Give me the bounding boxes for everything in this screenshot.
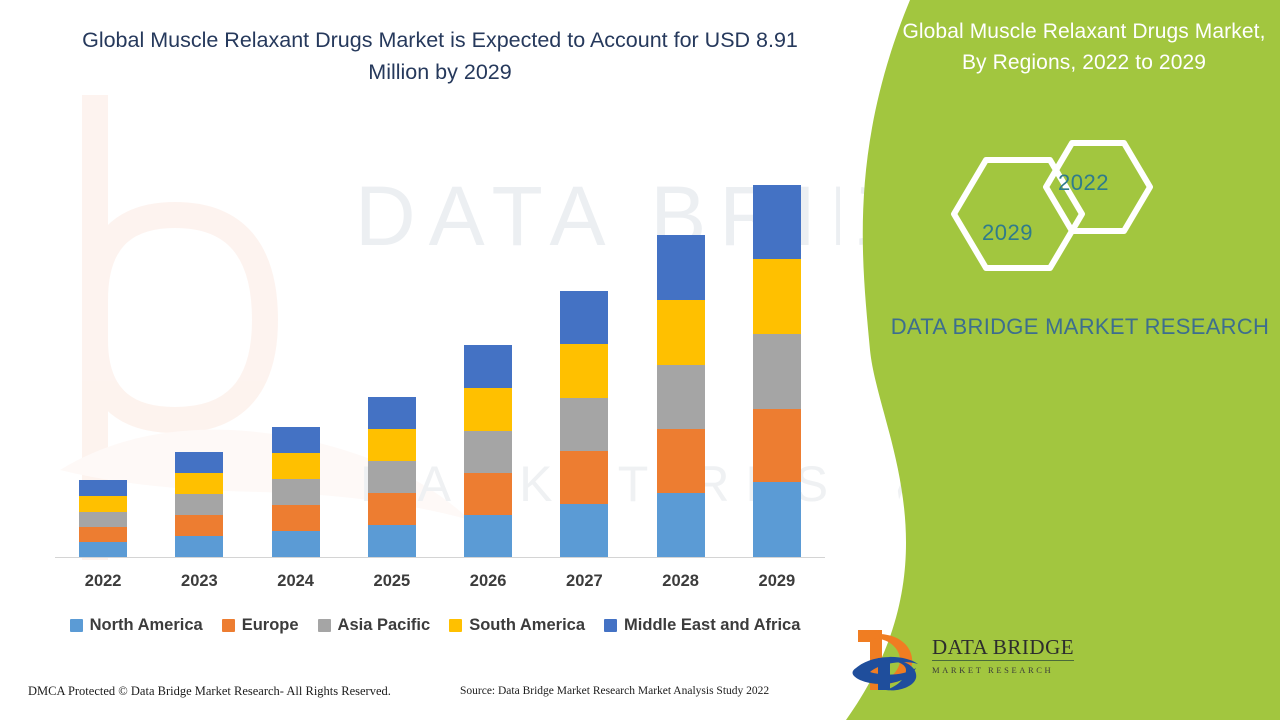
bar-segment — [753, 482, 801, 557]
bar-segment — [175, 536, 223, 557]
bar-segment — [175, 473, 223, 494]
x-axis-label: 2026 — [440, 572, 536, 591]
bar-segment — [175, 452, 223, 473]
bar-segment — [560, 344, 608, 398]
stacked-bar — [753, 185, 801, 557]
stacked-bar — [560, 291, 608, 557]
bar-column — [633, 110, 729, 557]
x-axis-label: 2029 — [729, 572, 825, 591]
bar-segment — [753, 185, 801, 259]
stacked-bar — [657, 235, 705, 557]
bar-segment — [79, 542, 127, 557]
bar-column — [248, 110, 344, 557]
bar-segment — [560, 504, 608, 557]
bar-segment — [657, 235, 705, 300]
bar-segment — [560, 398, 608, 451]
legend-item[interactable]: Asia Pacific — [318, 616, 431, 635]
x-axis-label: 2027 — [536, 572, 632, 591]
legend-swatch-icon — [604, 619, 617, 632]
chart-canvas: DATA BRIDGE MARKET RESEARCH Global Muscl… — [0, 0, 1280, 720]
x-axis-label: 2028 — [633, 572, 729, 591]
bar-column — [729, 110, 825, 557]
bar-segment — [464, 431, 512, 473]
legend-label: Middle East and Africa — [624, 616, 800, 635]
bar-segment — [464, 473, 512, 515]
bar-segment — [79, 496, 127, 512]
bar-segment — [368, 493, 416, 525]
bar-column — [536, 110, 632, 557]
hexagon-label-2022: 2022 — [1058, 170, 1109, 196]
bar-segment — [368, 525, 416, 557]
bar-segment — [79, 527, 127, 542]
bar-column — [344, 110, 440, 557]
bar-segment — [560, 291, 608, 344]
bar-segment — [272, 531, 320, 557]
bar-group — [55, 110, 825, 557]
x-axis-label: 2025 — [344, 572, 440, 591]
x-axis-label: 2024 — [248, 572, 344, 591]
chart-title: Global Muscle Relaxant Drugs Market is E… — [60, 24, 820, 88]
legend-swatch-icon — [222, 619, 235, 632]
panel-title: Global Muscle Relaxant Drugs Market, By … — [898, 16, 1270, 78]
bar-segment — [272, 479, 320, 505]
stacked-bar — [368, 397, 416, 557]
legend-swatch-icon — [449, 619, 462, 632]
bar-segment — [657, 300, 705, 365]
stacked-bar — [464, 345, 512, 557]
bar-segment — [560, 451, 608, 504]
x-axis-label: 2022 — [55, 572, 151, 591]
bar-segment — [368, 397, 416, 429]
stacked-bar — [272, 427, 320, 557]
bar-segment — [753, 334, 801, 409]
bar-segment — [368, 461, 416, 493]
x-axis-line — [55, 557, 825, 558]
bar-segment — [79, 512, 127, 527]
bar-segment — [753, 409, 801, 482]
bar-segment — [79, 480, 127, 496]
bar-segment — [272, 453, 320, 479]
bar-column — [440, 110, 536, 557]
hexagon-label-2029: 2029 — [982, 220, 1033, 246]
logo-secondary-text: MARKET RESEARCH — [932, 665, 1082, 675]
stacked-bar — [79, 480, 127, 557]
legend-item[interactable]: Middle East and Africa — [604, 616, 800, 635]
plot-area — [55, 110, 825, 558]
bar-segment — [272, 427, 320, 453]
footer-source-text: Source: Data Bridge Market Research Mark… — [460, 685, 769, 697]
footer-dmca-text: DMCA Protected © Data Bridge Market Rese… — [28, 684, 391, 699]
bar-segment — [464, 345, 512, 388]
bar-column — [151, 110, 247, 557]
bar-column — [55, 110, 151, 557]
legend-swatch-icon — [318, 619, 331, 632]
company-logo: DATA BRIDGE MARKET RESEARCH — [848, 624, 1078, 704]
hexagon-badges: 2022 2029 — [940, 138, 1160, 288]
x-axis-labels: 20222023202420252026202720282029 — [55, 572, 825, 591]
stacked-bar — [175, 452, 223, 557]
logo-mark-icon — [848, 624, 932, 698]
bar-segment — [657, 493, 705, 557]
bar-segment — [175, 494, 223, 515]
chart-legend: North AmericaEuropeAsia PacificSouth Ame… — [40, 616, 830, 635]
bar-segment — [368, 429, 416, 461]
legend-label: South America — [469, 616, 585, 635]
bar-segment — [175, 515, 223, 536]
bar-segment — [657, 365, 705, 429]
logo-primary-text: DATA BRIDGE — [932, 636, 1074, 661]
brand-panel: Global Muscle Relaxant Drugs Market, By … — [840, 0, 1280, 720]
legend-label: Asia Pacific — [338, 616, 431, 635]
legend-label: Europe — [242, 616, 299, 635]
legend-item[interactable]: South America — [449, 616, 585, 635]
brand-name-text: DATA BRIDGE MARKET RESEARCH — [880, 310, 1280, 343]
legend-label: North America — [90, 616, 203, 635]
bar-segment — [464, 515, 512, 557]
legend-item[interactable]: North America — [70, 616, 203, 635]
legend-swatch-icon — [70, 619, 83, 632]
bar-segment — [272, 505, 320, 531]
legend-item[interactable]: Europe — [222, 616, 299, 635]
bar-segment — [753, 259, 801, 334]
bar-segment — [657, 429, 705, 493]
bar-segment — [464, 388, 512, 431]
x-axis-label: 2023 — [151, 572, 247, 591]
